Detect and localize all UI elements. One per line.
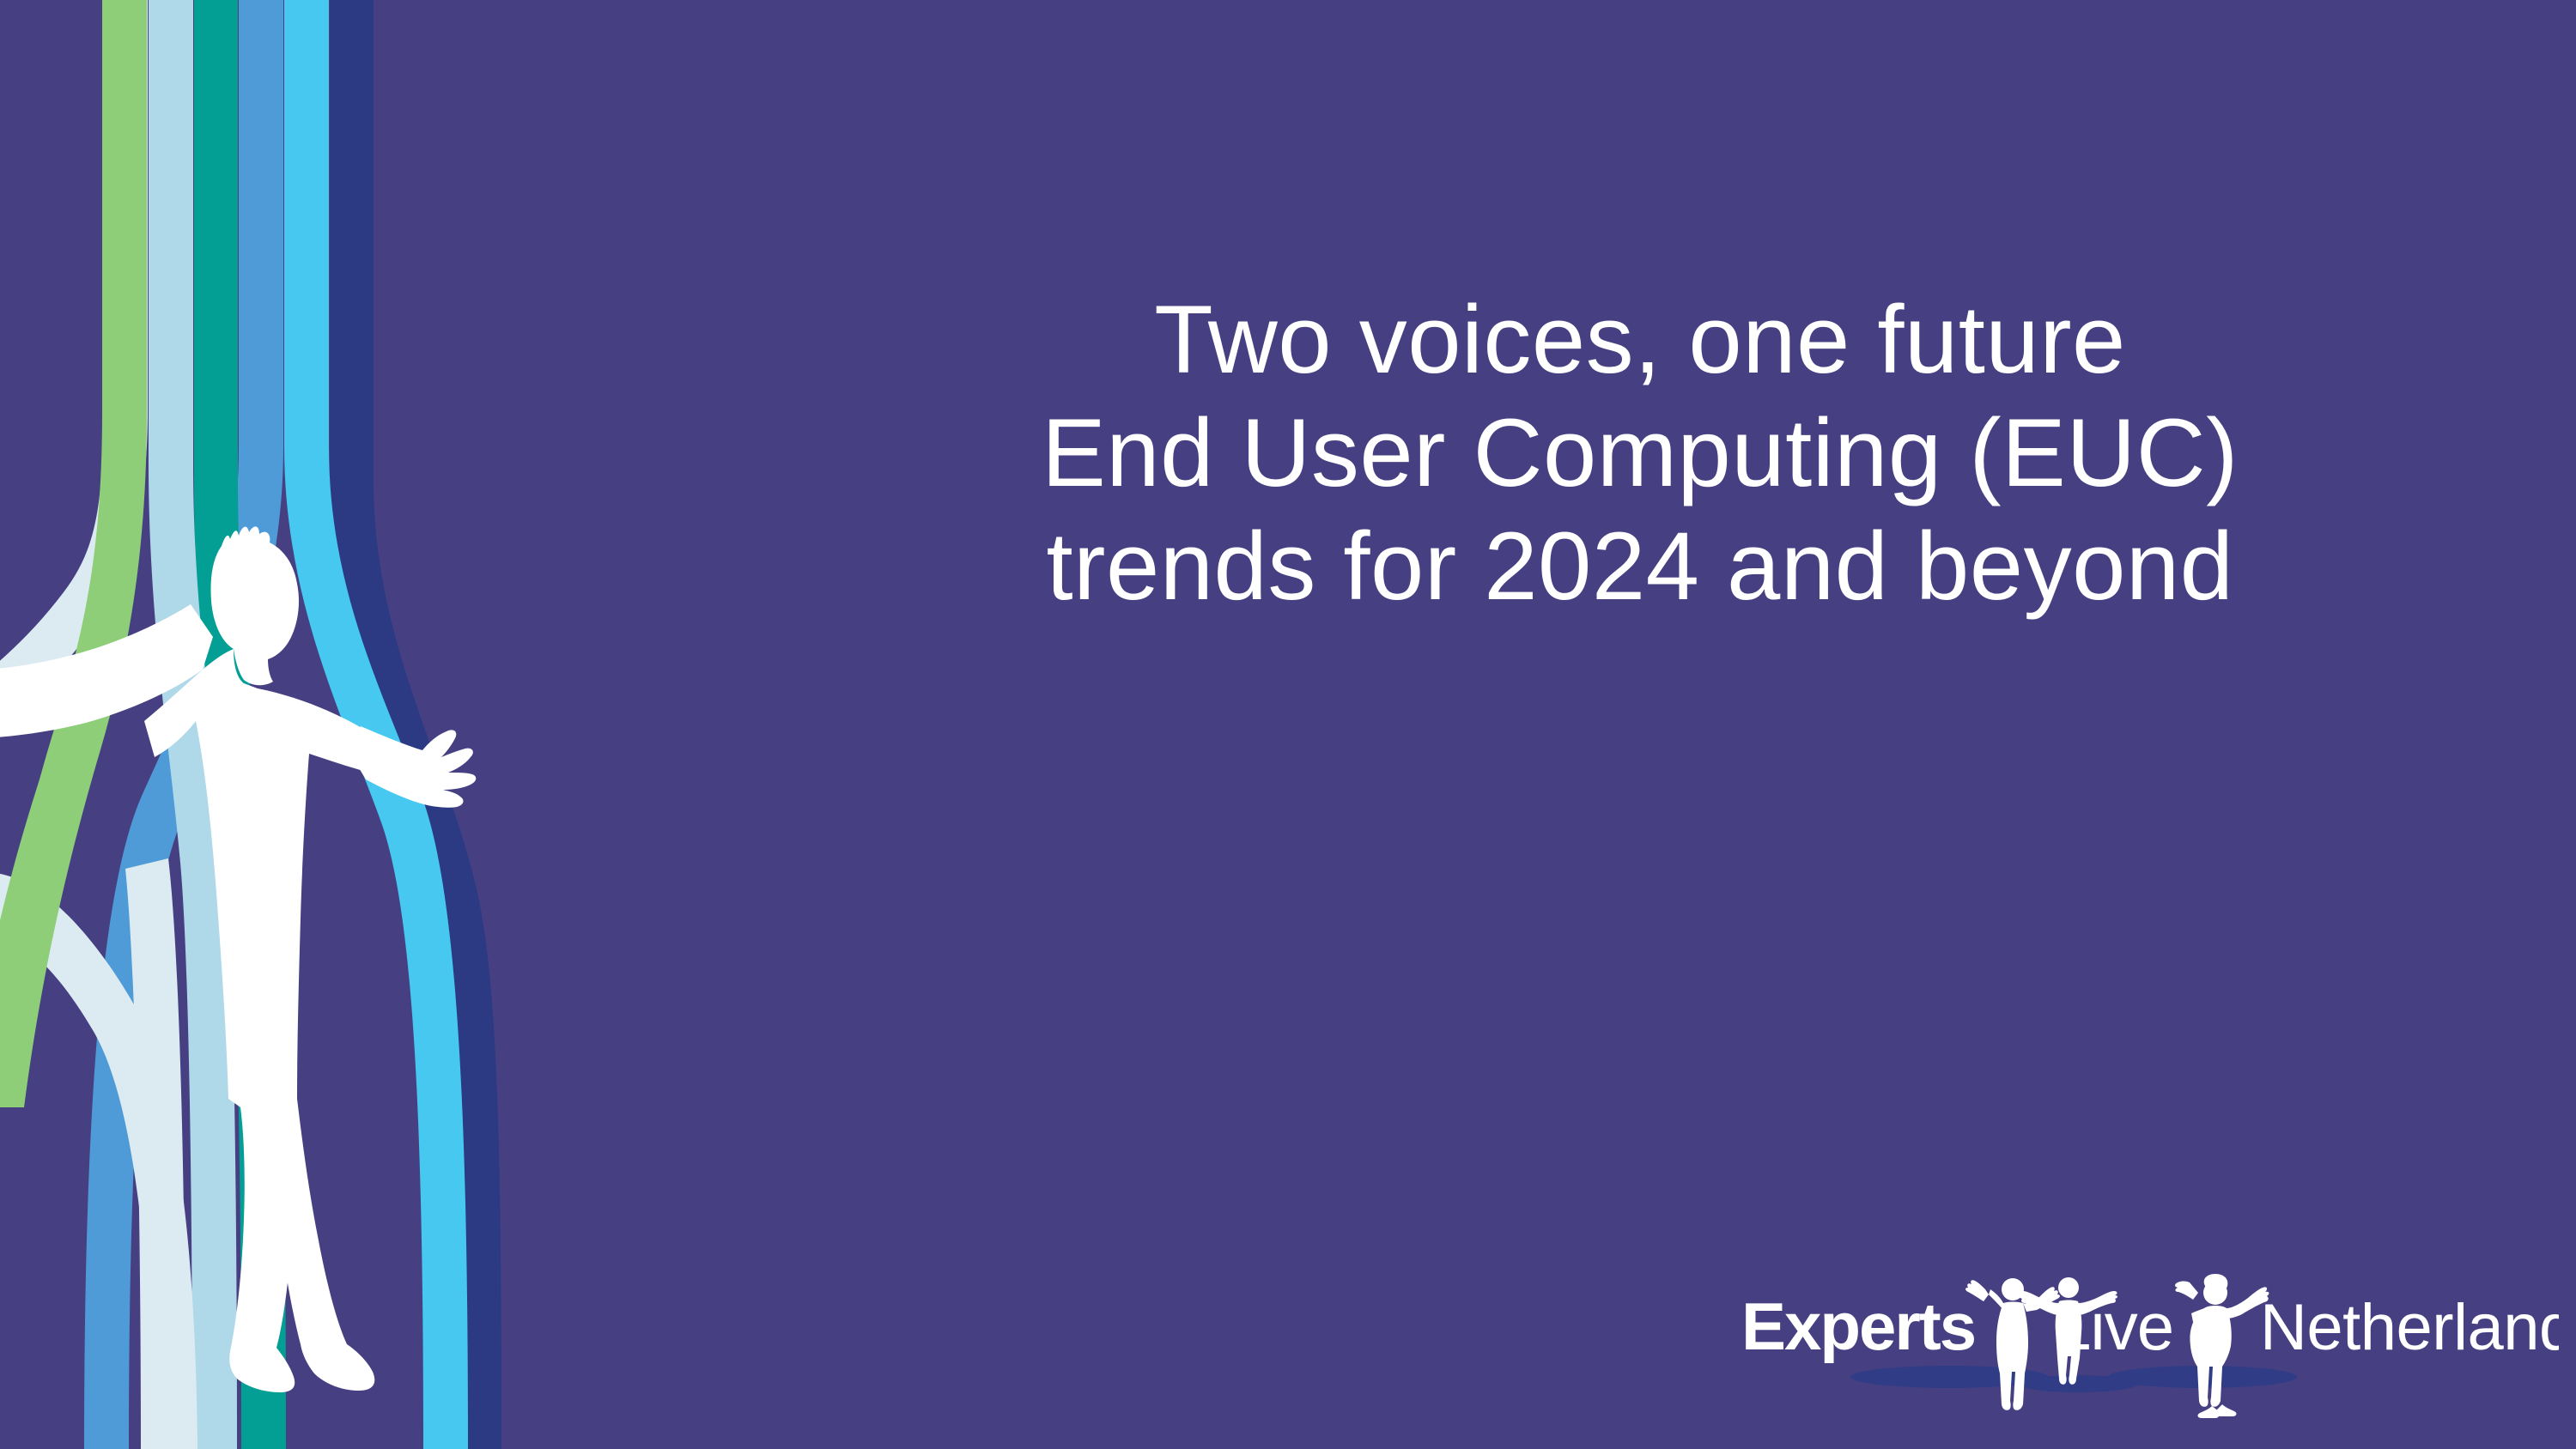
decorative-ribbon-artwork [0, 0, 653, 1449]
ribbon-svg [0, 0, 653, 1449]
title-line-3: trends for 2024 and beyond [824, 510, 2456, 623]
title-line-2: End User Computing (EUC) [824, 397, 2456, 510]
logo-word-netherlands: Netherlands [2260, 1291, 2559, 1364]
logo-svg: Experts Live [1735, 1267, 2559, 1430]
title-line-1: Two voices, one future [824, 283, 2456, 397]
logo-figure-woman-icon [2175, 1274, 2269, 1418]
slide-title: Two voices, one future End User Computin… [824, 283, 2456, 623]
logo-word-experts: Experts [1741, 1288, 1975, 1364]
experts-live-netherlands-logo: Experts Live [1735, 1267, 2559, 1430]
presentation-slide: Two voices, one future End User Computin… [0, 0, 2576, 1449]
